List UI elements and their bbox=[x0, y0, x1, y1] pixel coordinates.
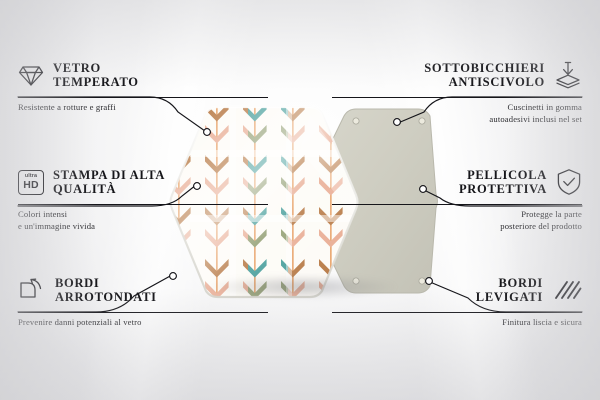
feature-title-line2: QUALITÀ bbox=[53, 182, 165, 196]
feature-title-line2: LEVIGATI bbox=[476, 290, 543, 304]
feature-subtitle-line1: Colori intensi bbox=[18, 209, 268, 221]
feature-subtitle-line2: autoadesivi inclusi nel set bbox=[332, 114, 582, 126]
feature-subtitle-line1: Protegge la parte bbox=[332, 209, 582, 221]
infographic-canvas: VETRO TEMPERATO Resistente a rotture e g… bbox=[0, 0, 600, 400]
diamond-gem-icon bbox=[18, 63, 44, 87]
feature-bordi-levigati: BORDI LEVIGATI Finitura liscia e sicura bbox=[332, 271, 582, 329]
diagonal-lines-icon bbox=[552, 277, 582, 303]
feature-rule bbox=[332, 312, 582, 313]
press-pad-icon bbox=[554, 61, 582, 89]
feature-stampa-alta-qualita: ultra HD STAMPA DI ALTA QUALITÀ Colori i… bbox=[18, 163, 268, 232]
feature-title-line2: ANTISCIVOLO bbox=[424, 75, 545, 89]
badge-hd-text: HD bbox=[23, 180, 39, 191]
feature-title-line1: STAMPA DI ALTA bbox=[53, 168, 165, 182]
feature-title-line1: VETRO bbox=[53, 61, 139, 75]
feature-subtitle-line1: Resistente a rotture e graffi bbox=[18, 102, 268, 114]
feature-title-line1: PELLICOLA bbox=[459, 168, 547, 182]
feature-subtitle-line1: Finitura liscia e sicura bbox=[332, 317, 582, 329]
feature-bordi-arrotondati: BORDI ARROTONDATI Prevenire danni potenz… bbox=[18, 271, 268, 329]
feature-rule bbox=[18, 312, 268, 313]
feature-title-line2: PROTETTIVA bbox=[459, 182, 547, 196]
feature-sottobicchieri-antiscivolo: SOTTOBICCHIERI ANTISCIVOLO Cuscinetti in… bbox=[332, 56, 582, 125]
feature-title-line1: SOTTOBICCHIERI bbox=[424, 61, 545, 75]
rounded-corner-icon bbox=[18, 277, 46, 303]
shield-check-icon bbox=[556, 168, 582, 196]
feature-subtitle-line2: e un'immagine vivida bbox=[18, 221, 268, 233]
feature-title-line2: TEMPERATO bbox=[53, 75, 139, 89]
feature-rule bbox=[18, 97, 268, 98]
ultra-hd-badge-icon: ultra HD bbox=[18, 170, 44, 195]
feature-rule bbox=[332, 97, 582, 98]
feature-rule bbox=[332, 204, 582, 205]
feature-pellicola-protettiva: PELLICOLA PROTETTIVA Protegge la parte p… bbox=[332, 163, 582, 232]
feature-title-line1: BORDI bbox=[476, 276, 543, 290]
feature-subtitle-line1: Cuscinetti in gomma bbox=[332, 102, 582, 114]
feature-title-line1: BORDI bbox=[55, 276, 157, 290]
feature-rule bbox=[18, 204, 268, 205]
feature-title-line2: ARROTONDATI bbox=[55, 290, 157, 304]
feature-vetro-temperato: VETRO TEMPERATO Resistente a rotture e g… bbox=[18, 56, 268, 114]
feature-subtitle-line1: Prevenire danni potenziali al vetro bbox=[18, 317, 268, 329]
feature-subtitle-line2: posteriore del prodotto bbox=[332, 221, 582, 233]
